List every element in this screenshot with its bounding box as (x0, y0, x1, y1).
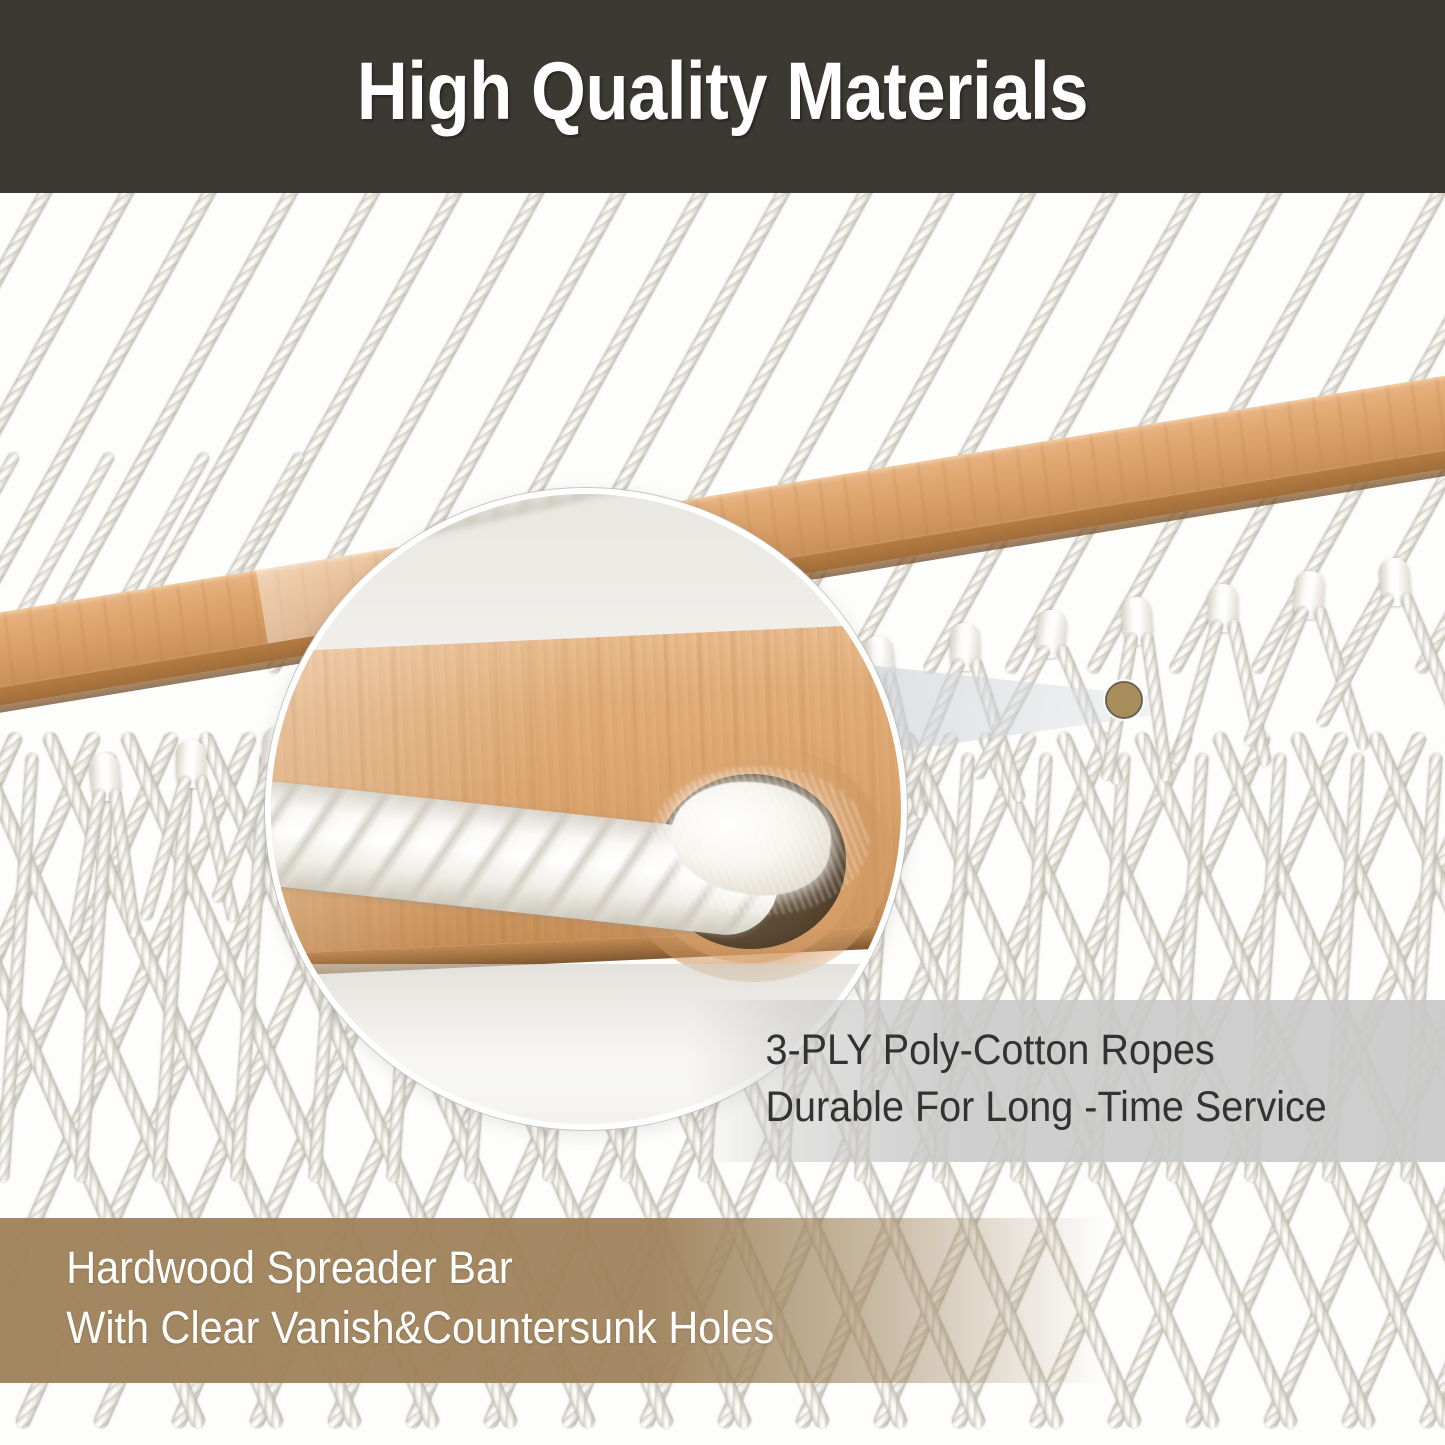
rope-strand (108, 788, 142, 938)
rope-strand (1242, 605, 1310, 749)
callout-ropes-line1: 3-PLY Poly-Cotton Ropes (690, 1022, 1385, 1079)
rope-strand (68, 788, 107, 938)
rope-strand (139, 774, 193, 922)
callout-spreader-bar: Hardwood Spreader Bar With Clear Vanish&… (0, 1218, 1100, 1383)
callout-ropes: 3-PLY Poly-Cotton Ropes Durable For Long… (690, 1000, 1445, 1162)
rope-strand (1399, 591, 1445, 734)
header-banner: High Quality Materials (0, 0, 1445, 193)
product-feature-image: High Quality Materials 3-PLY Poly-Cotton… (0, 0, 1445, 1445)
inset-rope-fuzz (649, 766, 869, 916)
callout-ropes-line2: Durable For Long -Time Service (690, 1079, 1385, 1136)
callout-bar-line2: With Clear Vanish&Countersunk Holes (0, 1298, 1012, 1358)
page-title: High Quality Materials (101, 46, 1344, 138)
rope-strand (1171, 618, 1225, 766)
callout-bar-line1: Hardwood Spreader Bar (0, 1238, 1012, 1298)
magnifier-target-marker (1105, 681, 1143, 719)
